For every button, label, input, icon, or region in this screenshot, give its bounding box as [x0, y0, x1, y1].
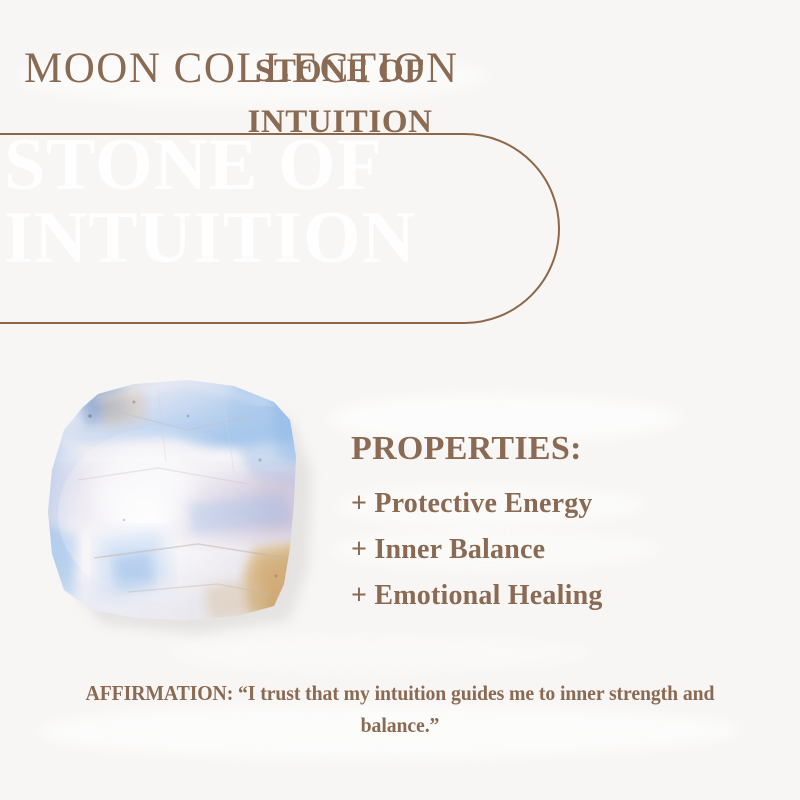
property-item: + Emotional Healing — [351, 573, 603, 619]
moonstone-svg — [38, 372, 328, 644]
property-item: + Inner Balance — [351, 527, 603, 573]
moonstone-image — [38, 372, 328, 644]
banner-title-line-1: STONE OF — [255, 53, 425, 89]
banner-title-line-2: INTUITION — [60, 97, 620, 148]
banner-title: STONE OF INTUITION — [60, 46, 620, 148]
property-item: + Protective Energy — [351, 481, 603, 527]
properties-heading: PROPERTIES: — [351, 430, 603, 467]
properties-section: PROPERTIES: + Protective Energy + Inner … — [351, 430, 603, 619]
banner-watermark-line-2: INTUITION — [4, 197, 416, 279]
banner-watermark: STONE OF INTUITION — [4, 133, 504, 274]
affirmation-text: AFFIRMATION: “I trust that my intuition … — [52, 678, 748, 742]
properties-list: + Protective Energy + Inner Balance + Em… — [351, 481, 603, 619]
stone-name-banner: STONE OF INTUITION — [0, 133, 560, 324]
